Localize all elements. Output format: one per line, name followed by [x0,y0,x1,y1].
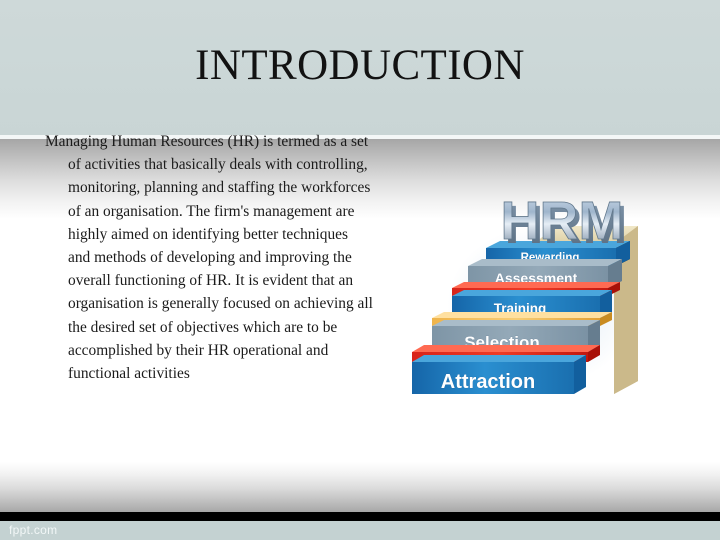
hrm-heading-text: HRM HRM [501,191,628,255]
hrm-heading-face: HRM [501,191,624,251]
step-label-attraction: Attraction [441,371,535,393]
step-attraction: Attraction [412,355,586,394]
slide-canvas: INTRODUCTION Managing Human Resources (H… [0,0,720,540]
footer-divider-band [0,512,720,521]
hrm-staircase-image: Rewarding Assessment Training [402,186,652,418]
body-paragraph: Managing Human Resources (HR) is termed … [45,130,373,385]
footer-band [0,521,720,540]
page-title: INTRODUCTION [0,40,720,92]
footer-brand-label: fppt.com [9,522,57,539]
bottom-gradient-fade [0,462,720,512]
